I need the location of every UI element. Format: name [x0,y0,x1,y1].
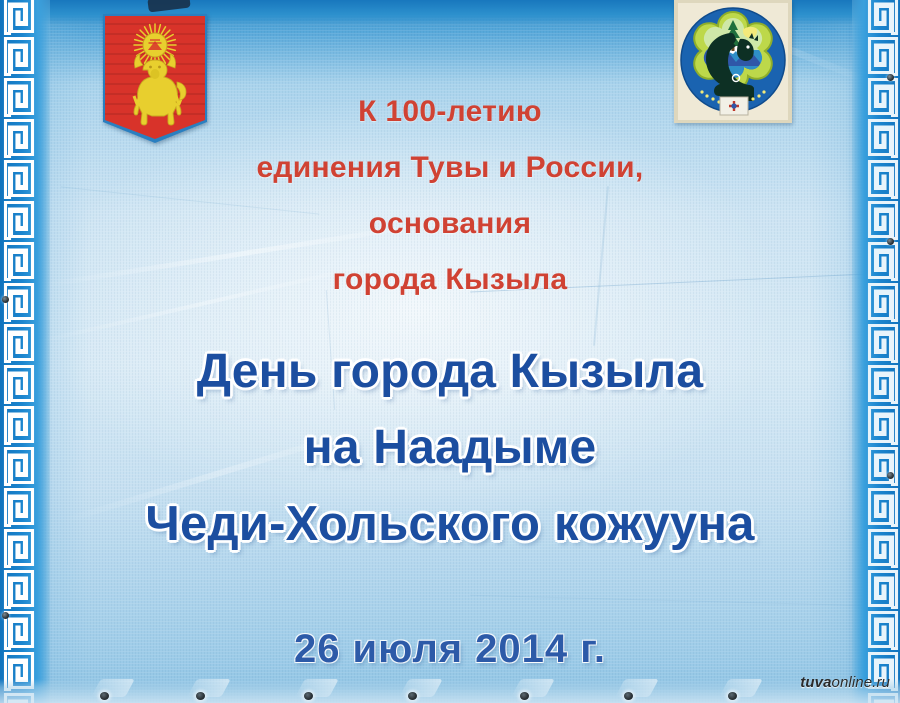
banner-photo: К 100-летию единения Тувы и России, осно… [0,0,900,703]
banner-grommet [196,692,205,700]
banner-grommet [100,692,109,700]
watermark-bold-part: tuva [800,674,831,691]
banner-grommet [624,692,633,700]
main-heading-text: День города Кызыла на Наадыме Чеди-Хольс… [0,334,900,562]
main-heading-line-1: День города Кызыла [0,334,900,410]
banner-fastener [887,472,894,479]
banner-grommet [304,692,313,700]
banner-fastener [2,612,9,619]
banner-fastener [2,296,9,303]
site-watermark: tuvaonline.ru [800,674,890,691]
subheading-text: К 100-летию единения Тувы и России, осно… [0,84,900,308]
banner-grommet [520,692,529,700]
subheading-line-4: города Кызыла [0,252,900,308]
banner-fastener [887,238,894,245]
main-heading-line-2: на Наадыме [0,410,900,486]
banner-fastener [887,74,894,81]
main-heading-line-3: Чеди-Хольского кожууна [0,486,900,562]
banner-grommet [728,692,737,700]
banner-grommet [408,692,417,700]
subheading-line-2: единения Тувы и России, [0,140,900,196]
event-date-text: 26 июля 2014 г. [0,627,900,672]
banner-bottom-edge [0,679,900,703]
watermark-rest-part: online.ru [832,674,890,691]
subheading-line-1: К 100-летию [0,84,900,140]
subheading-line-3: основания [0,196,900,252]
